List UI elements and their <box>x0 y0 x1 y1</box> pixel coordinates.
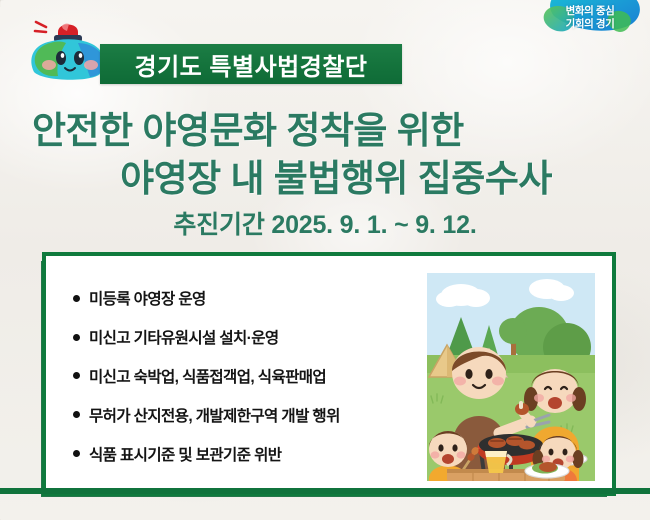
family-camping-bbq-illustration <box>427 273 595 481</box>
list-item-label: 미신고 기타유원시설 설치·운영 <box>89 326 279 348</box>
campaign-period-label: 추진기간 2025. 9. 1. ~ 9. 12. <box>0 205 650 241</box>
bullet-dot-icon <box>73 450 80 457</box>
list-item: 미신고 기타유원시설 설치·운영 <box>63 326 427 348</box>
bullet-dot-icon <box>73 372 80 379</box>
list-item: 무허가 산지전용, 개발제한구역 개발 행위 <box>63 404 427 426</box>
bullet-dot-icon <box>73 334 80 341</box>
gyeonggi-province-brand-logo: 변화의 중심 기회의 경기 <box>538 0 642 44</box>
violation-list-card: 미등록 야영장 운영 미신고 기타유원시설 설치·운영 미신고 숙박업, 식품접… <box>46 256 612 492</box>
brand-logo-line-2: 기회의 경기 <box>538 16 642 31</box>
list-item-label: 무허가 산지전용, 개발제한구역 개발 행위 <box>89 404 340 426</box>
list-item: 식품 표시기준 및 보관기준 위반 <box>63 443 427 465</box>
bullet-dot-icon <box>73 295 80 302</box>
organization-banner-label: 경기도 특별사법경찰단 <box>135 47 368 82</box>
headline-line-1: 안전한 야영문화 정착을 위한 <box>0 100 650 154</box>
list-item-label: 식품 표시기준 및 보관기준 위반 <box>89 443 281 465</box>
list-item-label: 미등록 야영장 운영 <box>89 287 206 309</box>
poster-root: 변화의 중심 기회의 경기 <box>0 0 650 520</box>
list-item-label: 미신고 숙박업, 식품접객업, 식육판매업 <box>89 365 326 387</box>
organization-banner: 경기도 특별사법경찰단 <box>100 44 402 84</box>
bottom-accent-rule <box>0 488 650 494</box>
bullet-dot-icon <box>73 411 80 418</box>
list-item: 미신고 숙박업, 식품접객업, 식육판매업 <box>63 365 427 387</box>
violation-bullet-list: 미등록 야영장 운영 미신고 기타유원시설 설치·운영 미신고 숙박업, 식품접… <box>63 273 427 481</box>
list-item: 미등록 야영장 운영 <box>63 287 427 309</box>
headline-line-2: 야영장 내 불법행위 집중수사 <box>0 148 650 202</box>
